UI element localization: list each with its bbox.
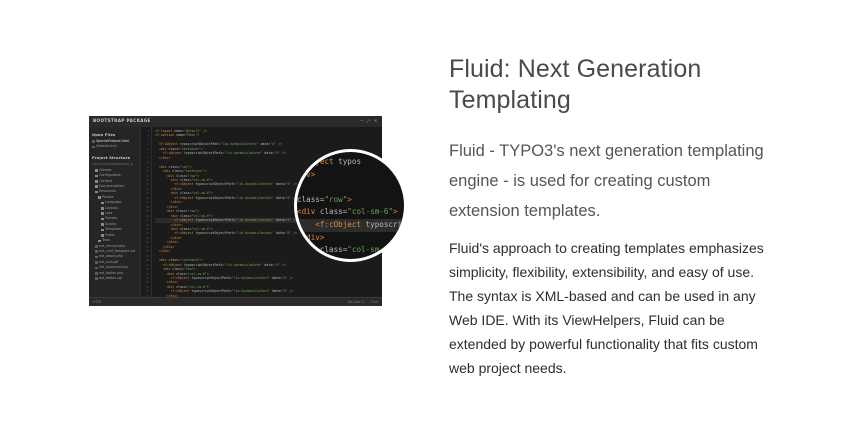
maximize-icon[interactable]: ⤢ <box>367 119 371 123</box>
folder-icon <box>101 212 104 215</box>
code-token: typoscriptObjectPath= <box>180 142 220 146</box>
code-token: "lib.dynamicContent" <box>232 276 270 280</box>
code-token: <f:cObject <box>170 276 191 280</box>
code-token: > <box>211 191 213 195</box>
code-token: :cObject <box>297 157 338 166</box>
file-icon <box>95 267 98 270</box>
code-token: </div> <box>170 187 182 191</box>
code-token: <f:layout <box>155 129 174 133</box>
code-token: typoscriptObjectPath= <box>191 276 231 280</box>
folder-icon <box>95 185 98 188</box>
code-token: </div> <box>170 236 182 240</box>
code-token: "row" <box>188 174 198 178</box>
code-token: name= <box>176 133 186 137</box>
code-token: class= <box>180 227 192 231</box>
open-file-item[interactable]: Default.html <box>89 144 140 149</box>
line-number-gutter: 1234567891011121314151617181920212223242… <box>141 127 152 298</box>
code-token: <f:cObject <box>163 151 184 155</box>
code-token: > <box>197 209 199 213</box>
code-token: > <box>297 182 302 191</box>
code-token: typoscriptObjectPath= <box>184 151 224 155</box>
code-token: <f:cObject <box>174 196 195 200</box>
code-token: > <box>211 214 213 218</box>
folder-icon <box>101 207 104 210</box>
code-token: "col-sm-6" <box>188 272 207 276</box>
status-item[interactable]: Fluid <box>370 300 378 304</box>
code-token: class= <box>168 258 180 262</box>
code-token: typos <box>338 157 361 166</box>
code-token: class= <box>176 209 188 213</box>
folder-icon <box>101 202 104 205</box>
code-token: > <box>211 227 213 231</box>
code-line: <div class="col-sm-6"> <box>294 244 407 257</box>
code-token: </div> <box>167 240 179 244</box>
code-line: div> <box>294 169 407 182</box>
code-token: "row" <box>184 267 194 271</box>
code-token: > <box>197 174 199 178</box>
code-token: <div <box>167 174 177 178</box>
code-token: "container" <box>180 147 201 151</box>
status-item[interactable]: Tab Size: 4 <box>347 300 364 304</box>
code-token: <div <box>167 272 177 276</box>
code-token: "row" <box>324 195 347 204</box>
code-token: class= <box>180 214 192 218</box>
code-token: name= <box>174 129 184 133</box>
magnifier-loupe: :cObject typosdiv>>class="row"><div clas… <box>294 149 407 262</box>
code-token: data= <box>270 289 282 293</box>
code-token: > <box>347 195 352 204</box>
code-token: "lib.dynamicContent" <box>224 263 262 267</box>
window-controls: — ⤢ ✕ <box>360 119 378 123</box>
ide-statusbar: HTML Tab Size: 4Fluid <box>89 297 382 306</box>
code-token: </div> <box>167 205 179 209</box>
code-token: /> <box>280 151 286 155</box>
code-token: "lib.dynamicContent" <box>236 182 274 186</box>
code-token: class= <box>172 169 184 173</box>
code-token: "lib.dynamicContent" <box>236 218 274 222</box>
project-tree: ClassesConfigurationContentDocumentation… <box>89 168 140 282</box>
code-token: typoscriptObjectPath= <box>195 231 235 235</box>
file-icon <box>95 250 98 253</box>
code-token: > <box>207 285 209 289</box>
ide-window-title: BOOTSTRAP PACKAGE <box>93 118 151 123</box>
magnifier-content: :cObject typosdiv>>class="row"><div clas… <box>294 156 407 262</box>
code-token: typoscriptObjectPath= <box>195 196 235 200</box>
code-token: > <box>205 169 207 173</box>
code-token: <f:cObject <box>159 142 180 146</box>
page-title: Fluid: Next Generation Templating <box>449 54 779 116</box>
file-icon <box>95 245 98 248</box>
code-token: class= <box>172 267 184 271</box>
code-line: > <box>294 181 407 194</box>
code-token: </div> <box>170 223 182 227</box>
code-token: typoscriptObjectPath= <box>195 182 235 186</box>
code-token: data= <box>270 276 282 280</box>
code-token: class= <box>320 245 347 254</box>
code-token: <f:cObject <box>163 263 184 267</box>
code-token: <div <box>159 165 169 169</box>
code-token: "lib.dynamicContent" <box>236 231 274 235</box>
code-token: data= <box>259 142 271 146</box>
code-token: class= <box>176 174 188 178</box>
open-file-label: Default.html <box>96 144 117 149</box>
minimize-icon[interactable]: — <box>360 119 364 123</box>
code-token: "Default" <box>184 129 201 133</box>
code-token: </div> <box>159 249 171 253</box>
code-token: <div <box>170 214 180 218</box>
code-token: "lib.dynamicContent" <box>220 142 258 146</box>
code-token: > <box>393 245 398 254</box>
code-token: > <box>197 133 199 137</box>
code-token: typoscriptOb <box>366 220 407 229</box>
file-icon <box>95 261 98 264</box>
code-token: "lib.dynamicContent" <box>236 196 274 200</box>
code-token: <f:cObject <box>297 220 366 229</box>
tree-item-label: ext_tables.sql <box>99 276 122 281</box>
open-files-list: SpecialFeature.htmlDefault.html <box>89 139 140 150</box>
code-token: <f:cObject <box>174 231 195 235</box>
code-token: typoscriptObjectPath= <box>195 218 235 222</box>
code-token: "col" <box>180 165 190 169</box>
status-language: HTML <box>93 300 102 304</box>
code-token: div> <box>297 170 315 179</box>
code-token: class= <box>176 272 188 276</box>
code-token: </div> <box>159 156 171 160</box>
code-token: </div> <box>170 200 182 204</box>
code-line: :cObject typos <box>294 156 407 169</box>
folder-icon <box>95 175 98 178</box>
ide-sidebar: Open Files SpecialFeature.htmlDefault.ht… <box>89 127 141 298</box>
code-token: <div <box>167 209 177 213</box>
code-token: <div <box>167 285 177 289</box>
code-token: <f:section <box>155 133 176 137</box>
code-token: > <box>201 258 203 262</box>
code-token: > <box>211 178 213 182</box>
code-token: </div> <box>297 233 324 242</box>
folder-icon <box>98 240 101 243</box>
code-line: <f:cObject typoscriptOb <box>294 219 407 232</box>
folder-icon <box>95 169 98 172</box>
code-token: "lib.dynamicContent" <box>232 289 270 293</box>
code-line: <div class="col-sm-6"> <box>294 206 407 219</box>
folder-icon <box>98 196 101 199</box>
code-token: /> <box>287 289 293 293</box>
code-token: class= <box>180 191 192 195</box>
file-icon <box>95 277 98 280</box>
code-token: <div <box>163 169 173 173</box>
code-token: "Main" <box>186 133 198 137</box>
media-column: BOOTSTRAP PACKAGE — ⤢ ✕ Open Files Speci… <box>0 0 430 425</box>
code-token: "col-sm-6" <box>188 285 207 289</box>
code-token: data= <box>274 182 286 186</box>
code-token: > <box>393 207 398 216</box>
code-token: "col-sm-6" <box>191 227 210 231</box>
code-token: data= <box>274 218 286 222</box>
code-token: "container" <box>180 258 201 262</box>
code-token: <div <box>163 267 173 271</box>
code-token: data= <box>274 231 286 235</box>
file-icon <box>92 140 95 143</box>
code-token: typoscriptObjectPath= <box>191 289 231 293</box>
file-icon <box>95 256 98 259</box>
code-token: class= <box>180 178 192 182</box>
code-token: "container" <box>184 169 205 173</box>
folder-icon <box>101 218 104 221</box>
code-token: data= <box>263 151 275 155</box>
code-token: /> <box>280 263 286 267</box>
code-token: <div <box>159 258 169 262</box>
code-token: "col-sm-6" <box>347 207 393 216</box>
code-token: "col-sm-6" <box>347 245 393 254</box>
code-line: class="row"> <box>294 194 407 207</box>
code-token: <f:cObject <box>174 218 195 222</box>
code-token: /> <box>276 142 282 146</box>
open-files-heading: Open Files <box>89 130 140 139</box>
tree-file-item[interactable]: ext_tables.sql <box>89 276 140 281</box>
code-token: /> <box>201 129 207 133</box>
code-token: <div <box>170 191 180 195</box>
article-body: Fluid's approach to creating templates e… <box>449 236 774 380</box>
code-token: <div <box>297 245 320 254</box>
code-token: <f:cObject <box>174 182 195 186</box>
text-column: Fluid: Next Generation Templating Fluid … <box>449 0 789 425</box>
code-token: class= <box>168 147 180 151</box>
code-token: /> <box>287 276 293 280</box>
project-structure-heading: Project Structure <box>89 153 140 162</box>
file-icon <box>92 146 95 149</box>
folder-icon <box>95 191 98 194</box>
code-token: "row" <box>188 209 198 213</box>
code-token: class= <box>176 285 188 289</box>
code-token: class= <box>168 165 180 169</box>
code-token: typoscriptObjectPath= <box>184 263 224 267</box>
code-token: "col-sm-6" <box>191 191 210 195</box>
code-token: <f:cObject <box>170 289 191 293</box>
code-token: <div <box>170 178 180 182</box>
code-token: "col-sm-6" <box>191 178 210 182</box>
code-token: class= <box>297 195 324 204</box>
code-line: </div> <box>294 232 407 245</box>
folder-icon <box>101 234 104 237</box>
code-token: > <box>207 272 209 276</box>
code-token: <div <box>170 227 180 231</box>
code-token: data= <box>263 263 275 267</box>
code-token: </div> <box>167 280 179 284</box>
folder-icon <box>95 180 98 183</box>
file-icon <box>95 272 98 275</box>
folder-icon <box>101 223 104 226</box>
code-token: > <box>190 165 192 169</box>
code-token: > <box>201 147 203 151</box>
code-token: "col-sm-6" <box>191 214 210 218</box>
code-token: <div <box>159 147 169 151</box>
code-token: </div> <box>163 245 175 249</box>
status-right-group: Tab Size: 4Fluid <box>347 300 378 304</box>
page-root: BOOTSTRAP PACKAGE — ⤢ ✕ Open Files Speci… <box>0 0 860 425</box>
code-token: "lib.dynamicContent" <box>224 151 262 155</box>
code-token: data= <box>274 196 286 200</box>
code-token: > <box>193 267 195 271</box>
article-lede: Fluid - TYPO3's next generation templati… <box>449 136 779 226</box>
close-icon[interactable]: ✕ <box>374 119 378 123</box>
code-token: <div <box>297 207 320 216</box>
folder-icon <box>101 229 104 232</box>
code-token: class= <box>320 207 347 216</box>
